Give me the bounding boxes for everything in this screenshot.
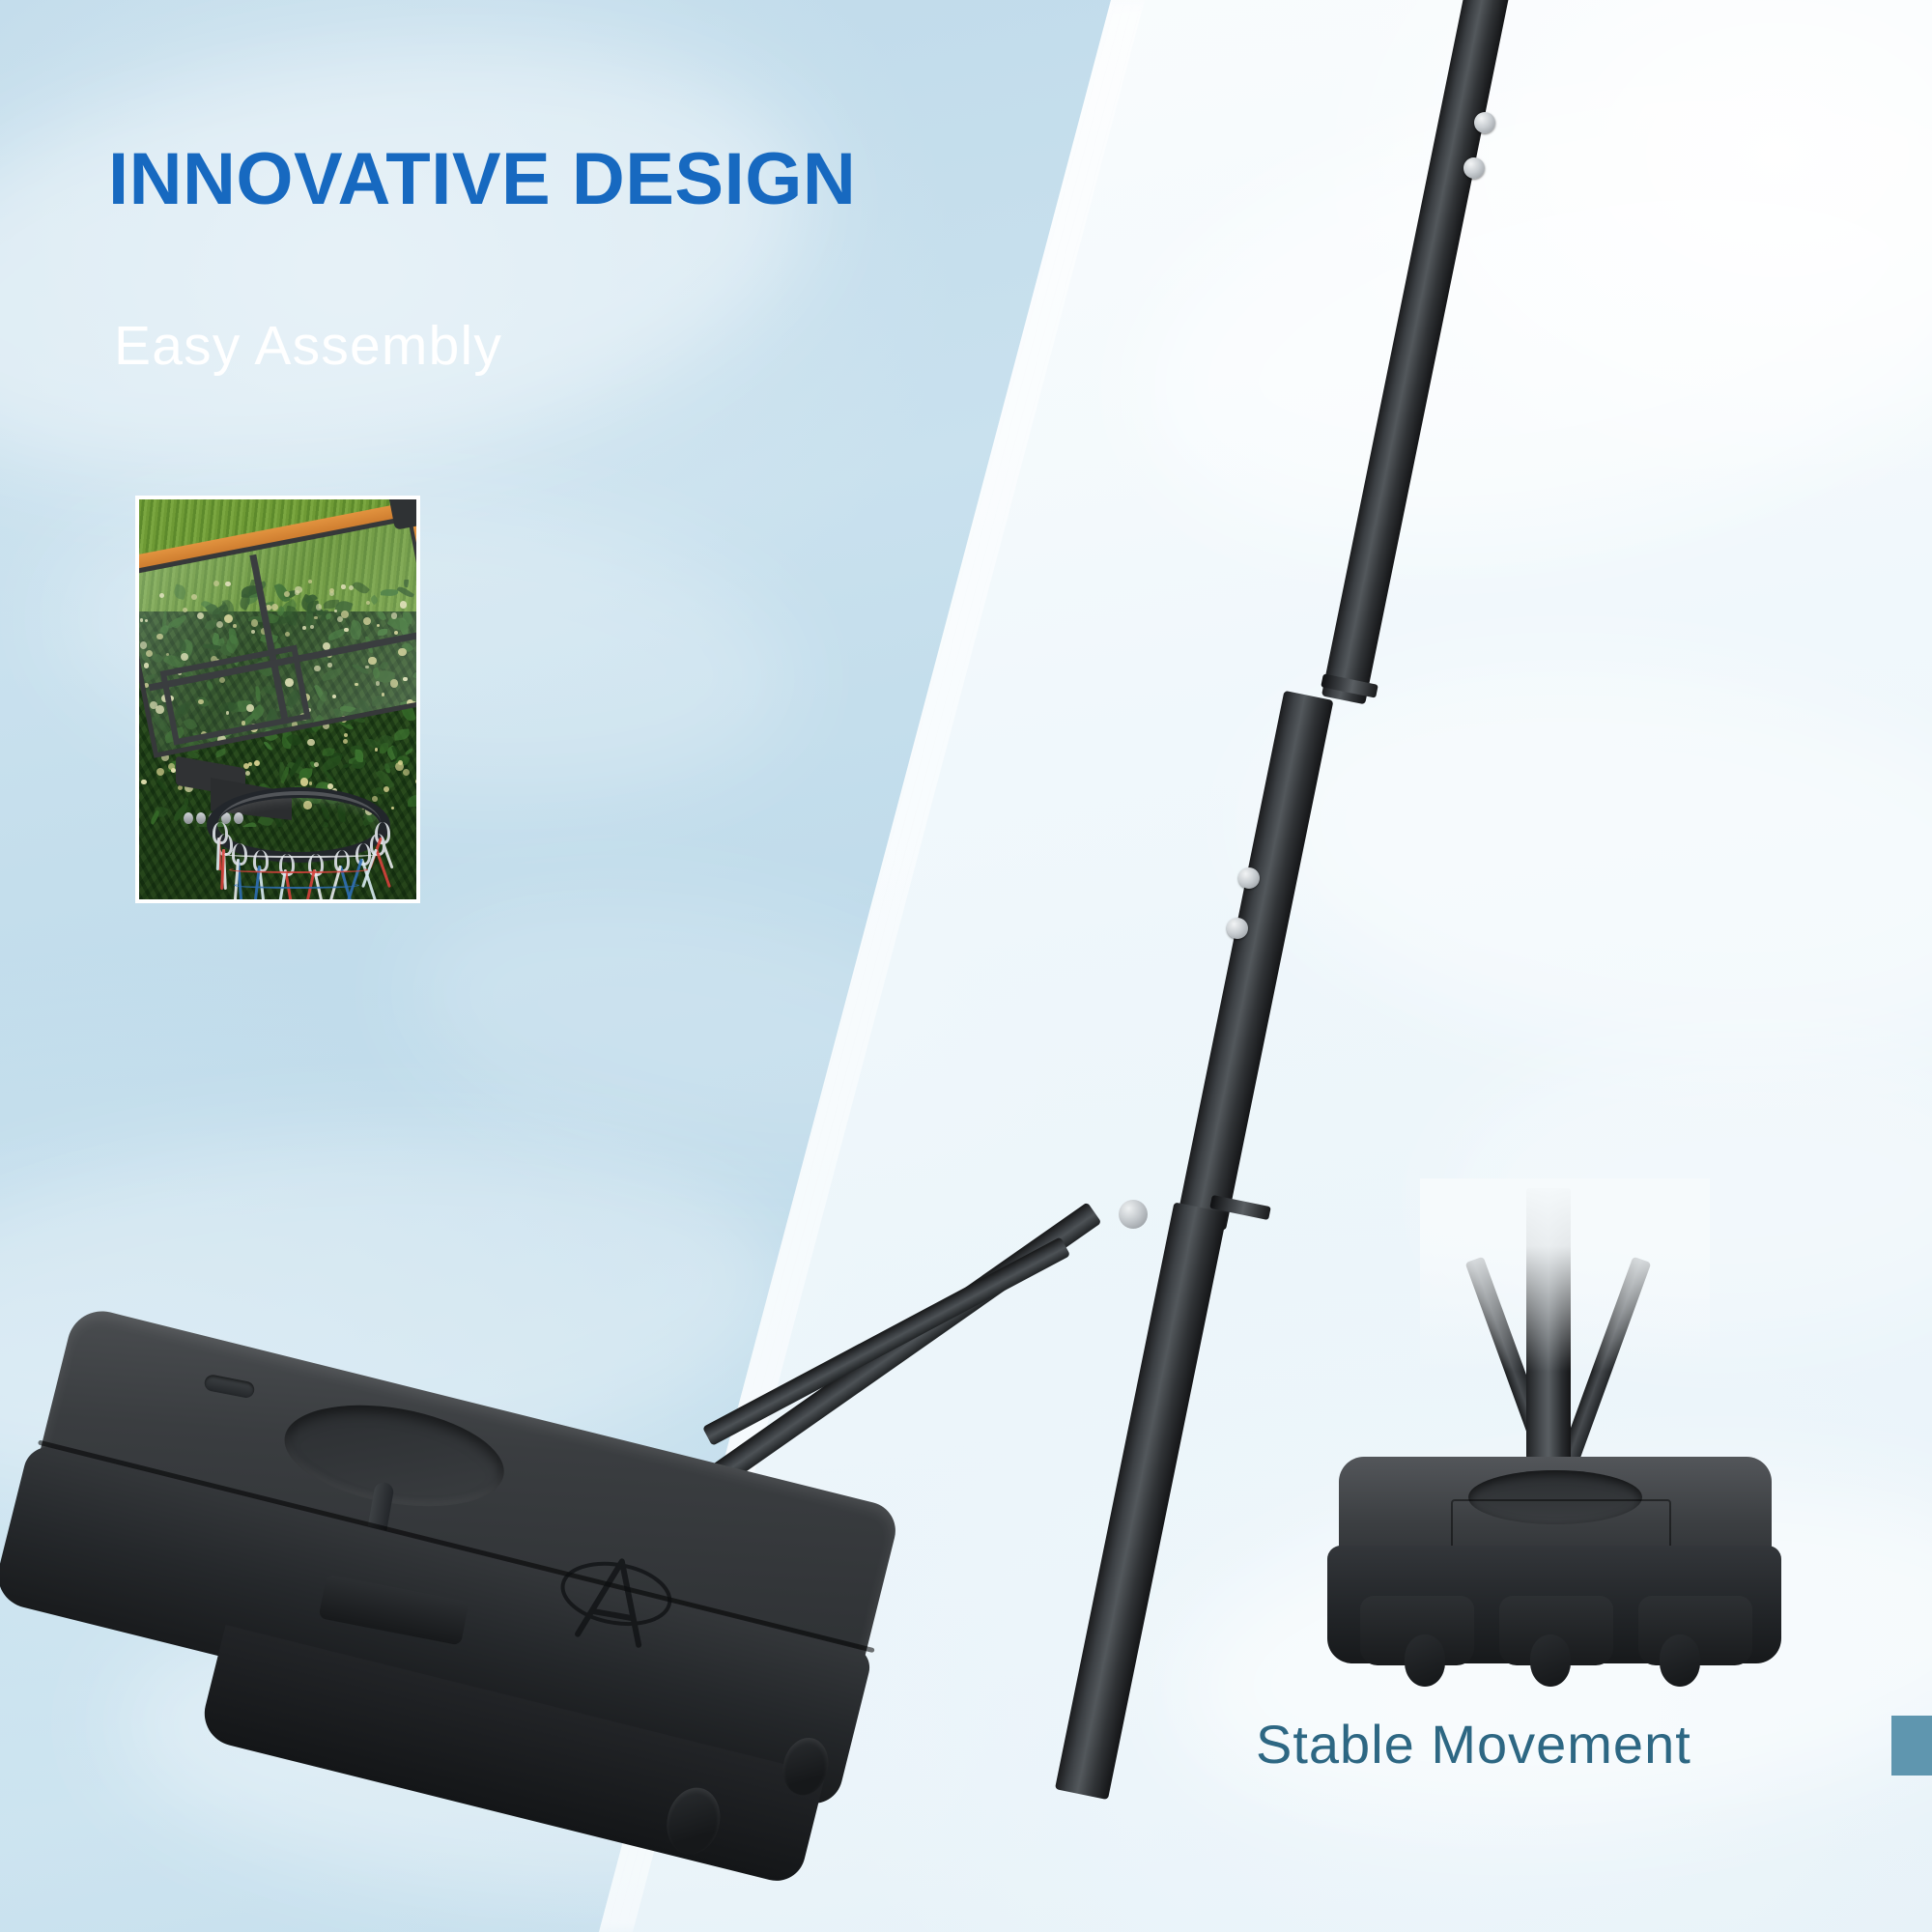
wheel-icon (1530, 1634, 1571, 1687)
leaf-icon (407, 795, 416, 808)
leaf-icon (149, 810, 160, 825)
flower-icon (343, 739, 348, 744)
support-strut-short (702, 1236, 1070, 1446)
leaf-icon (393, 728, 410, 741)
brand-a-logo (546, 1538, 684, 1663)
flower-icon (156, 768, 164, 776)
product-banner: INNOVATIVE DESIGN Easy Assembly Stable M… (0, 0, 1932, 1932)
rivet-icon (1474, 112, 1495, 133)
leaf-icon (404, 748, 413, 755)
net-band (229, 867, 368, 873)
flower-icon (307, 739, 314, 746)
subtitle: Easy Assembly (114, 319, 502, 374)
flower-icon (403, 769, 410, 776)
leaf-icon (264, 741, 273, 752)
pole-lower-segment (1055, 1202, 1227, 1800)
pole-middle-segment (1177, 691, 1334, 1231)
wheel-icon (1405, 1634, 1445, 1687)
corner-accent-block (1891, 1716, 1932, 1776)
leaf-icon (156, 778, 168, 792)
wheel-icon (1660, 1634, 1700, 1687)
flower-icon (344, 733, 348, 737)
pole-upper-segment (1321, 0, 1512, 704)
bolt-icon (184, 812, 193, 824)
backboard-shooting-square (160, 645, 311, 746)
flower-icon (141, 780, 146, 784)
strut-pivot-bolt-icon (1119, 1200, 1148, 1229)
stable-movement-image (1285, 1188, 1826, 1690)
leaf-icon (413, 759, 416, 774)
flower-icon (375, 748, 378, 751)
rivet-icon (1227, 918, 1248, 939)
flower-icon (415, 779, 416, 784)
page-title: INNOVATIVE DESIGN (108, 143, 856, 216)
easy-assembly-inset-photo (135, 496, 420, 903)
rim-assembly (168, 758, 400, 903)
leaf-icon (214, 749, 226, 758)
bolt-icon (196, 812, 206, 824)
feature-caption-stable-movement: Stable Movement (1256, 1718, 1691, 1772)
net-band (224, 851, 377, 858)
rivet-icon (1238, 867, 1260, 889)
net-band (234, 882, 359, 889)
rivet-icon (1463, 157, 1485, 179)
